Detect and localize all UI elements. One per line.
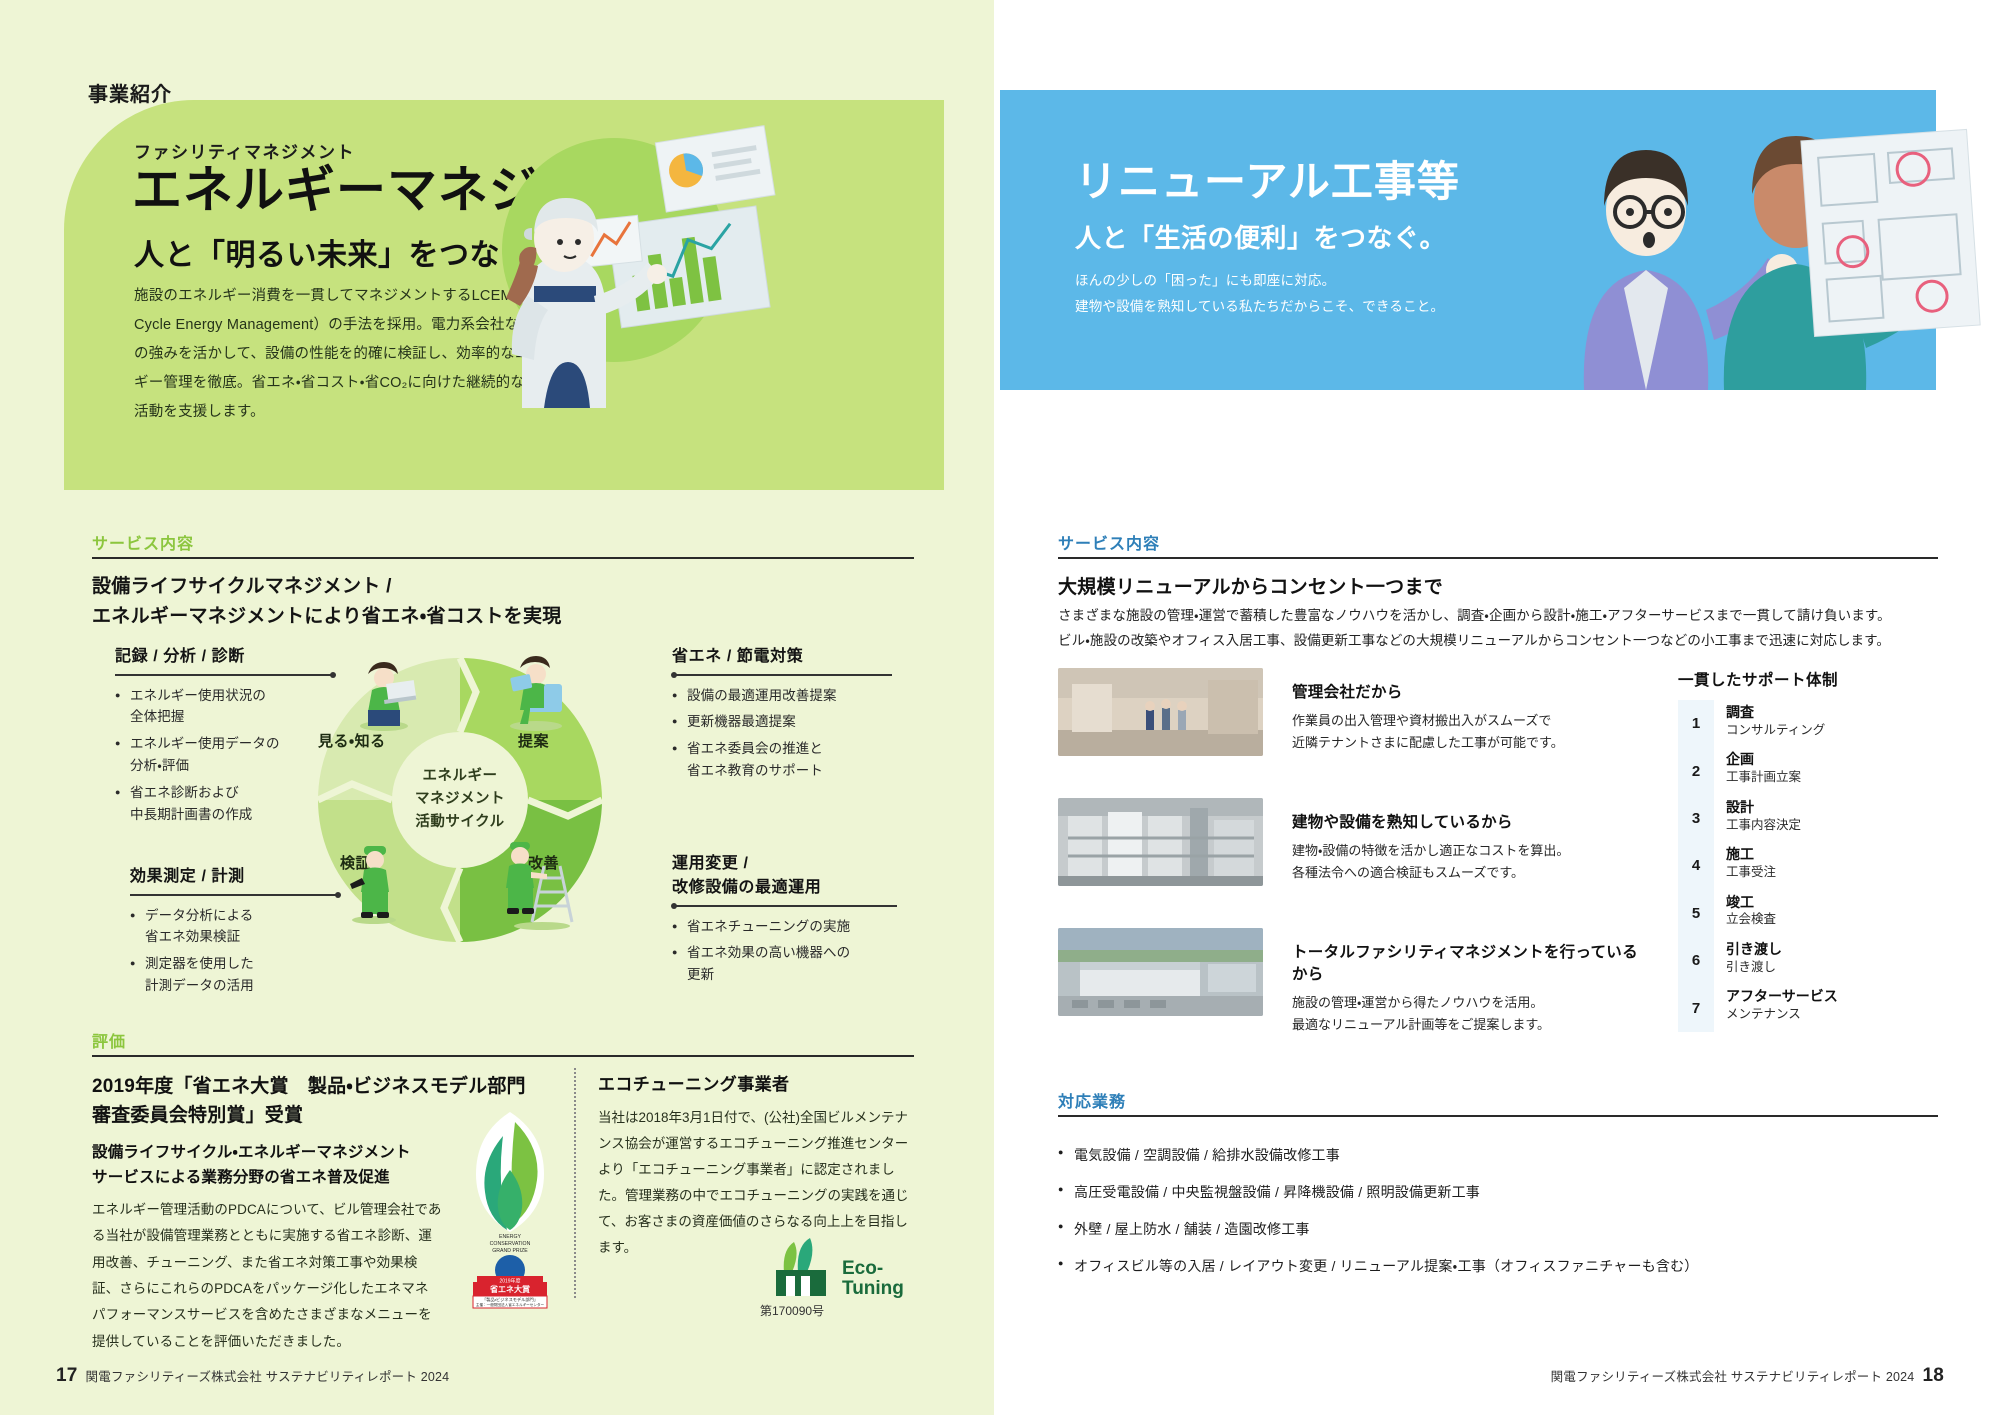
list-item: 省エネ診断および 中長期計画書の作成	[115, 782, 335, 826]
hero-title: リニューアル工事等	[1075, 148, 1460, 209]
step-number: 6	[1678, 937, 1714, 984]
hero-body-line2: 建物や設備を熟知している私たちだからこそ、できること。	[1075, 294, 1444, 320]
cycle-center-line2: マネジメント	[415, 788, 505, 811]
cycle-center-line3: 活動サイクル	[415, 812, 505, 835]
step-desc: 工事内容決定	[1726, 817, 1801, 835]
callout-record-analysis: 記録 / 分析 / 診断 エネルギー使用状況の 全体把握 エネルギー使用データの…	[115, 645, 335, 831]
step-name: 設計	[1726, 798, 1801, 817]
evaluation-heading: 評価	[92, 1028, 126, 1052]
svg-text:CONSERVATION: CONSERVATION	[490, 1241, 531, 1247]
callout-title: 記録 / 分析 / 診断	[115, 645, 335, 674]
step-number: 3	[1678, 795, 1714, 842]
energy-dashboard-illustration	[464, 120, 794, 400]
callout-rule	[672, 674, 892, 676]
reason-body-line2: 各種法令への適合検証もスムーズです。	[1292, 862, 1622, 884]
list-item: 外壁 / 屋上防水 / 舗装 / 造園改修工事	[1058, 1219, 1948, 1240]
list-item: 高圧受電設備 / 中央監視盤設備 / 昇降機設備 / 照明設備更新工事	[1058, 1182, 1948, 1203]
person-inspector-icon	[340, 836, 410, 924]
step-desc: コンサルティング	[1726, 722, 1825, 740]
support-structure-title: 一貫したサポート体制	[1678, 668, 1938, 690]
step-name: アフターサービス	[1726, 987, 1838, 1006]
step-desc: 立会検査	[1726, 911, 1776, 929]
callout-operation-change: 運用変更 / 改修設備の最適運用 省エネチューニングの実施 省エネ効果の高い機器…	[672, 852, 897, 991]
right-page: リニューアル工事等 人と「生活の便利」をつなぐ。 ほんの少しの「困った」にも即座…	[1000, 0, 2000, 1415]
lead-title-line2: エネルギーマネジメントにより省エネ・省コストを実現	[92, 602, 562, 632]
callout-title: 運用変更 / 改修設備の最適運用	[672, 852, 897, 905]
svg-text:GRAND PRIZE: GRAND PRIZE	[492, 1248, 528, 1254]
support-structure-panel: 一貫したサポート体制 1 調査 コンサルティング 2 企画 工事計画立案 3 設…	[1678, 668, 1938, 1032]
aerial-facility-photo	[1058, 928, 1263, 1016]
step-number: 1	[1678, 700, 1714, 747]
service-content-heading: サービス内容	[92, 530, 194, 554]
support-step-row: 5 竣工 立会検査	[1678, 890, 1938, 937]
step-name: 施工	[1726, 845, 1776, 864]
list-item: オフィスビル等の入居 / レイアウト変更 / リニューアル提案・工事（オフィスフ…	[1058, 1256, 1948, 1277]
award-body: エネルギー管理活動のPDCAについて、ビル管理会社である当社が設備管理業務ととも…	[92, 1197, 442, 1355]
reason-body-line1: 施設の管理・運営から得たノウハウを活用。	[1292, 992, 1652, 1014]
list-item: エネルギー使用データの 分析・評価	[115, 733, 335, 777]
callout-effect-measurement: 効果測定 / 計測 データ分析による 省エネ効果検証 測定器を使用した 計測デー…	[130, 865, 340, 1002]
step-desc: メンテナンス	[1726, 1006, 1838, 1024]
support-step-row: 3 設計 工事内容決定	[1678, 795, 1938, 842]
mechanical-plant-photo	[1058, 798, 1263, 886]
svg-text:「製品・ビジネスモデル部門」: 「製品・ビジネスモデル部門」	[482, 1296, 538, 1303]
reason-title: 管理会社だから	[1292, 680, 1622, 702]
eco-tuning-logo: Eco- Tuning	[770, 1228, 930, 1300]
callout-title: 効果測定 / 計測	[130, 865, 340, 894]
cycle-center-line1: エネルギー	[415, 765, 505, 788]
list-item: データ分析による 省エネ効果検証	[130, 905, 340, 949]
page-number: 17	[56, 1365, 78, 1387]
reason-building-knowledge: 建物や設備を熟知しているから 建物・設備の特徴を活かし適正なコストを算出。 各種…	[1292, 810, 1622, 885]
callout-rule	[672, 905, 897, 907]
list-item: 省エネ委員会の推進と 省エネ教育のサポート	[672, 738, 892, 782]
reason-title: 建物や設備を熟知しているから	[1292, 810, 1622, 832]
svg-text:ENERGY: ENERGY	[499, 1234, 521, 1240]
service-heading-rule	[1058, 557, 1938, 559]
callout-rule	[115, 674, 335, 676]
hero-body-line1: ほんの少しの「困った」にも即座に対応。	[1075, 268, 1444, 294]
support-step-row: 2 企画 工事計画立案	[1678, 747, 1938, 794]
service-content-heading: サービス内容	[1058, 530, 1160, 554]
list-item: 測定器を使用した 計測データの活用	[130, 953, 340, 997]
right-page-folio: 関電ファシリティーズ株式会社 サステナビリティレポート 2024 18	[1551, 1365, 1944, 1387]
list-item: エネルギー使用状況の 全体把握	[115, 685, 335, 729]
lead-title: 大規模リニューアルからコンセント一つまで	[1058, 572, 1443, 599]
folio-text: 関電ファシリティーズ株式会社 サステナビリティレポート 2024	[86, 1366, 450, 1385]
renewal-hero-panel: リニューアル工事等 人と「生活の便利」をつなぐ。 ほんの少しの「困った」にも即座…	[1000, 90, 1936, 390]
award-title-line1: 2019年度「省エネ大賞 製品・ビジネスモデル部門	[92, 1072, 526, 1101]
step-number: 2	[1678, 747, 1714, 794]
reason-title: トータルファシリティマネジメントを行っているから	[1292, 940, 1652, 984]
reason-body-line1: 建物・設備の特徴を活かし適正なコストを算出。	[1292, 840, 1622, 862]
folio-text: 関電ファシリティーズ株式会社 サステナビリティレポート 2024	[1551, 1366, 1915, 1385]
hero-tagline: 人と「生活の便利」をつなぐ。	[1075, 218, 1446, 255]
reason-total-facility-management: トータルファシリティマネジメントを行っているから 施設の管理・運営から得たノウハ…	[1292, 940, 1652, 1037]
step-number: 7	[1678, 984, 1714, 1031]
callout-rule	[130, 894, 340, 896]
list-item: 省エネ効果の高い機器への 更新	[672, 942, 897, 986]
reason-body-line1: 作業員の出入管理や資材搬出入がスムーズで	[1292, 710, 1622, 732]
step-desc: 工事計画立案	[1726, 769, 1801, 787]
energy-hero-panel: ファシリティマネジメント エネルギーマネジメント 人と「明るい未来」をつなぐ。 …	[64, 100, 944, 490]
step-desc: 引き渡し	[1726, 959, 1782, 977]
evaluation-heading-rule	[92, 1055, 914, 1057]
svg-text:Eco-: Eco-	[842, 1258, 883, 1279]
cycle-center-label: エネルギー マネジメント 活動サイクル	[415, 765, 505, 835]
reason-body-line2: 近隣テナントさまに配慮した工事が可能です。	[1292, 732, 1622, 754]
lead-sub-line2: ビル・施設の改築やオフィス入居工事、設備更新工事などの大規模リニューアルからコン…	[1058, 629, 1948, 654]
lead-sub-line1: さまざまな施設の管理・運営で蓄積した豊富なノウハウを活かし、調査・企画から設計・…	[1058, 604, 1948, 629]
list-item: 更新機器最適提案	[672, 711, 892, 733]
support-step-row: 1 調査 コンサルティング	[1678, 700, 1938, 747]
operations-heading: 対応業務	[1058, 1088, 1126, 1112]
page-number: 18	[1922, 1365, 1944, 1387]
vertical-divider	[574, 1068, 576, 1298]
callout-list: 設備の最適運用改善提案 更新機器最適提案 省エネ委員会の推進と 省エネ教育のサポ…	[672, 685, 892, 782]
step-name: 竣工	[1726, 893, 1776, 912]
callout-list: 省エネチューニングの実施 省エネ効果の高い機器への 更新	[672, 916, 897, 987]
list-item: 省エネチューニングの実施	[672, 916, 897, 938]
person-ladder-icon	[498, 830, 586, 930]
svg-text:Tuning: Tuning	[842, 1278, 904, 1299]
support-step-row: 4 施工 工事受注	[1678, 842, 1938, 889]
step-name: 企画	[1726, 750, 1801, 769]
hero-kicker: ファシリティマネジメント	[134, 138, 355, 163]
step-number: 5	[1678, 890, 1714, 937]
svg-text:省エネ大賞: 省エネ大賞	[489, 1284, 530, 1294]
svg-text:主催：一般財団法人省エネルギーセンター: 主催：一般財団法人省エネルギーセンター	[476, 1302, 545, 1307]
lead-title-line1: 設備ライフサイクルマネジメント /	[92, 572, 392, 602]
step-name: 引き渡し	[1726, 940, 1782, 959]
callout-title: 省エネ / 節電対策	[672, 645, 892, 674]
reason-management-company: 管理会社だから 作業員の出入管理や資材搬出入がスムーズで 近隣テナントさまに配慮…	[1292, 680, 1622, 755]
list-item: 設備の最適運用改善提案	[672, 685, 892, 707]
support-step-row: 6 引き渡し 引き渡し	[1678, 937, 1938, 984]
left-page-folio: 17 関電ファシリティーズ株式会社 サステナビリティレポート 2024	[56, 1365, 449, 1387]
award-subtitle-line1: 設備ライフサイクル・エネルギーマネジメント	[92, 1140, 411, 1166]
page-section-kicker: 事業紹介	[88, 78, 172, 107]
callout-list: データ分析による 省エネ効果検証 測定器を使用した 計測データの活用	[130, 905, 340, 997]
left-page: 事業紹介 ファシリティマネジメント エネルギーマネジメント 人と「明るい未来」を…	[0, 0, 1000, 1415]
step-number: 4	[1678, 842, 1714, 889]
service-heading-rule	[92, 557, 914, 559]
energy-conservation-grand-prize-emblem: ENERGY CONSERVATION GRAND PRIZE 省エネ大賞 「製…	[455, 1110, 565, 1310]
operations-list: 電気設備 / 空調設備 / 給排水設備改修工事 高圧受電設備 / 中央監視盤設備…	[1058, 1145, 1948, 1293]
person-chair-icon	[500, 650, 574, 732]
award-title-line2: 審査委員会特別賞」受賞	[92, 1101, 303, 1130]
svg-text:2019年度: 2019年度	[499, 1278, 520, 1285]
magazine-spread: 事業紹介 ファシリティマネジメント エネルギーマネジメント 人と「明るい未来」を…	[0, 0, 2000, 1415]
callout-energy-saving: 省エネ / 節電対策 設備の最適運用改善提案 更新機器最適提案 省エネ委員会の推…	[672, 645, 892, 787]
list-item: 電気設備 / 空調設備 / 給排水設備改修工事	[1058, 1145, 1948, 1166]
support-step-row: 7 アフターサービス メンテナンス	[1678, 984, 1938, 1031]
person-laptop-icon	[350, 654, 420, 732]
blueprint-people-illustration	[1556, 60, 1986, 390]
cycle-node-teian: 提案	[518, 730, 549, 751]
step-desc: 工事受注	[1726, 864, 1776, 882]
reason-body-line2: 最適なリニューアル計画等をご提案します。	[1292, 1014, 1652, 1036]
step-name: 調査	[1726, 703, 1825, 722]
callout-list: エネルギー使用状況の 全体把握 エネルギー使用データの 分析・評価 省エネ診断お…	[115, 685, 335, 826]
operations-heading-rule	[1058, 1115, 1938, 1117]
hero-body: ほんの少しの「困った」にも即座に対応。 建物や設備を熟知している私たちだからこそ…	[1075, 268, 1444, 319]
award-subtitle-line2: サービスによる業務分野の省エネ普及促進	[92, 1165, 390, 1191]
eco-tuning-heading: エコチューニング事業者	[598, 1070, 789, 1095]
eco-tuning-cert-number: 第170090号	[760, 1302, 824, 1319]
interior-renovation-photo	[1058, 668, 1263, 756]
energy-management-cycle-diagram: エネルギー マネジメント 活動サイクル 見る・知る 提案 改善 検証	[300, 640, 620, 960]
